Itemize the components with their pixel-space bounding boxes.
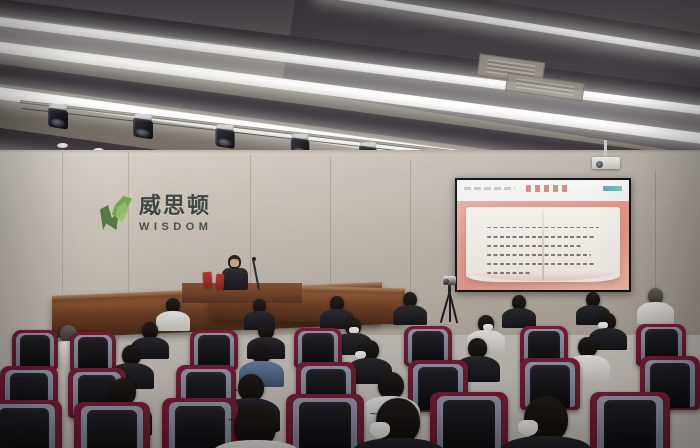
attendee-head [122,345,141,365]
slide-text-line [487,254,591,256]
attendee-shoulders [500,436,592,448]
stage-light [133,114,153,140]
slide-header-left-text [464,187,516,190]
eyeglasses [234,389,251,393]
auditorium-seat [190,330,238,370]
wisdom-leaf-icon [100,196,134,232]
projection-screen[interactable] [455,178,631,292]
slide-text-line [487,245,582,247]
logo-text-english: WISDOM [139,221,212,233]
slide-body [457,201,629,290]
slide-text-line [487,227,598,229]
attendee-head [468,338,487,358]
auditorium-seat [162,398,238,448]
auditorium-seat [70,332,116,372]
logo-text-chinese: 威思顿 [139,196,212,218]
attendee-shoulders [637,302,674,324]
presenter-face [230,259,239,267]
slide-text-line [487,272,532,274]
projector-lens [596,161,603,168]
projector-mount-rod [604,140,607,158]
seat-back-pad [0,408,49,448]
seat-back-pad [604,400,657,448]
screen-surface [457,180,629,290]
seat-back-pad [78,337,108,371]
slide-text-line [487,236,596,238]
recessed-downlight [57,143,68,148]
conference-hall-photo: AC3001 [0,0,700,448]
red-booklet [202,272,212,289]
seat-back-pad [299,402,350,448]
company-logo: 威思顿 WISDOM [100,196,212,233]
open-book-graphic [466,207,621,282]
presenter-torso [222,268,248,290]
attendee-head [378,372,404,399]
seat-back-pad [20,335,50,369]
seat-back-pad [443,400,494,448]
slide-title-text [526,185,571,192]
seat-back-pad [198,335,230,369]
auditorium-seat [12,330,58,370]
slide-header [457,180,629,202]
video-camera-lens [444,279,449,284]
attendee-head [110,378,136,405]
auditorium-seat [286,394,364,448]
attendee-head [252,343,271,363]
attendee-shoulders [156,311,190,331]
podium-microphone-head [252,257,256,261]
presentation-logo-icon [603,186,622,191]
attendee-shoulders [393,305,427,325]
attendee-head [578,337,597,357]
face-mask [370,422,390,438]
red-booklet [216,274,225,289]
seat-back-pad [87,410,137,448]
slide-text-line [487,263,594,265]
face-mask [518,420,538,436]
tripod-leg [449,294,451,322]
auditorium-seat [74,402,150,448]
seat-back-pad [175,406,225,448]
stage-light [48,104,68,130]
auditorium-seat [0,400,62,448]
auditorium-seat [590,392,670,448]
auditorium-seat [430,392,508,448]
attendee-shoulders [502,308,536,328]
stage-light [215,125,234,150]
attendee-head [238,374,264,401]
slide-text-block [487,227,598,264]
